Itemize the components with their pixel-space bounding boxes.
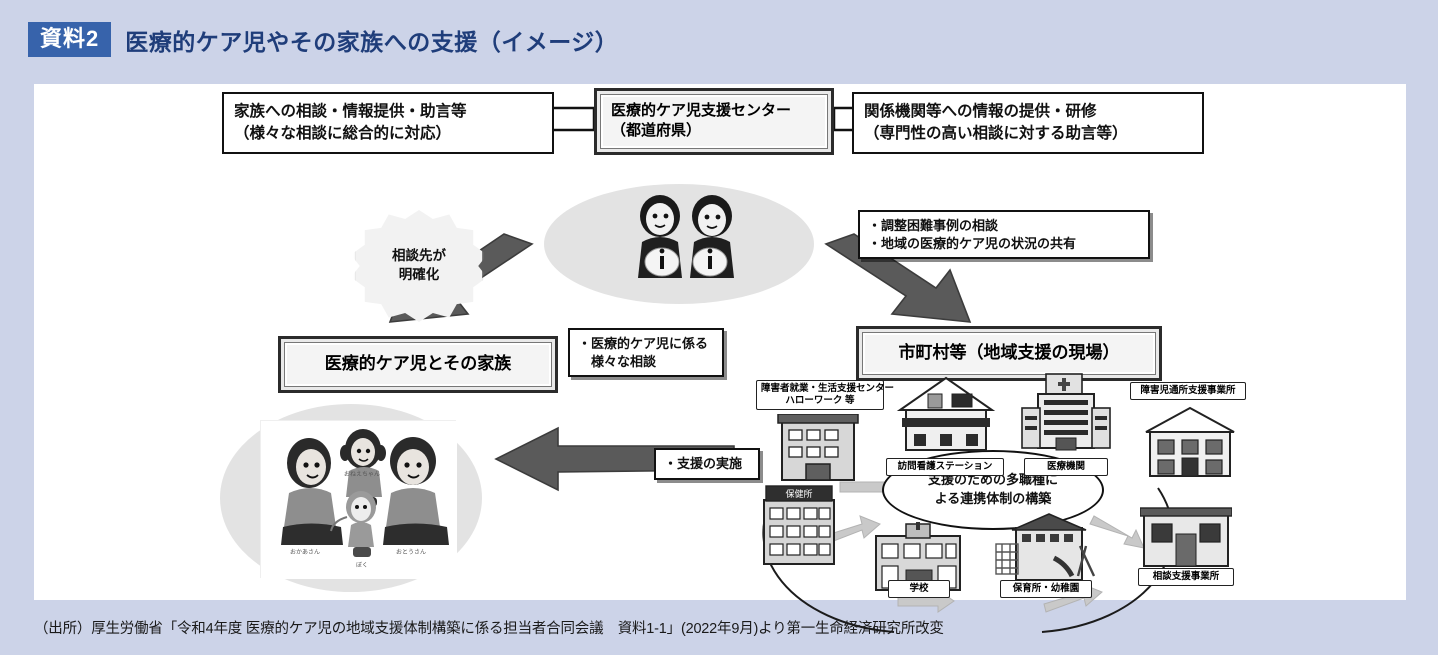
diagram-panel: 家族への相談・情報提供・助言等 （様々な相談に総合的に対応） 医療的ケア児支援セ… xyxy=(34,84,1406,600)
note-ftc-line2: 様々な相談 xyxy=(578,353,714,371)
facility-label-consultation-office: 相談支援事業所 xyxy=(1138,568,1234,586)
note-support-implementation: ・支援の実施 xyxy=(654,448,760,480)
facility-label-day-service: 障害児通所支援事業所 xyxy=(1130,382,1246,400)
facility-employment-line1: 障害者就業・生活支援センター xyxy=(761,383,879,395)
figure-page: 資料2 医療的ケア児やその家族への支援（イメージ） xyxy=(0,0,1438,655)
medical-institution-building-icon xyxy=(1018,370,1114,459)
visiting-nursing-house-icon xyxy=(896,376,996,459)
facility-nursery-line1: 保育所・幼稚園 xyxy=(1005,583,1087,595)
facility-label-employment-center: 障害者就業・生活支援センター ハローワーク 等 xyxy=(756,380,884,410)
facility-dayservice-line1: 障害児通所支援事業所 xyxy=(1135,385,1241,397)
center-node-line1: 医療的ケア児支援センター xyxy=(611,101,819,121)
center-node-box: 医療的ケア児支援センター （都道府県） xyxy=(594,88,834,155)
network-ellipse-line2: よる連携体制の構築 xyxy=(928,490,1058,509)
person-male-icon xyxy=(690,195,734,278)
svg-text:保健所: 保健所 xyxy=(785,488,812,500)
municipality-node-label: 市町村等（地域支援の現場） xyxy=(899,343,1120,362)
right-note-box: 関係機関等への情報の提供・研修 （専門性の高い相談に対する助言等） xyxy=(852,92,1204,154)
day-service-house-icon xyxy=(1140,406,1240,485)
facility-nursing-line1: 訪問看護ステーション xyxy=(891,461,999,473)
note-municipality-to-center: ・調整困難事例の相談 ・地域の医療的ケア児の状況の共有 xyxy=(858,210,1150,259)
left-note-line1: 家族への相談・情報提供・助言等 xyxy=(234,101,542,123)
note-ftc-line1: ・医療的ケア児に係る xyxy=(578,335,714,353)
family-illustration: おかあさん おねえちゃん おとうさん ぼく xyxy=(260,420,456,578)
right-note-line1: 関係機関等への情報の提供・研修 xyxy=(864,101,1192,123)
family-node-label: 医療的ケア児とその家族 xyxy=(325,354,512,373)
note-mtc-line1: ・調整困難事例の相談 xyxy=(868,217,1140,235)
municipality-node-box: 市町村等（地域支援の現場） xyxy=(856,326,1162,381)
right-note-line2: （専門性の高い相談に対する助言等） xyxy=(864,123,1192,145)
employment-center-building-icon xyxy=(776,414,860,489)
facility-employment-line2: ハローワーク 等 xyxy=(761,395,879,407)
svg-text:おねえちゃん: おねえちゃん xyxy=(344,471,380,478)
consultation-office-building-icon xyxy=(1140,504,1232,575)
health-center-building-icon: 保健所 xyxy=(756,484,842,571)
note-mtc-line2: ・地域の医療的ケア児の状況の共有 xyxy=(868,235,1140,253)
starburst-line2: 明確化 xyxy=(392,266,446,285)
facility-label-medical-institution: 医療機関 xyxy=(1024,458,1108,476)
svg-text:おとうさん: おとうさん xyxy=(396,549,426,556)
source-note: （出所）厚生労働省「令和4年度 医療的ケア児の地域支援体制構築に係る担当者合同会… xyxy=(34,617,1406,638)
facility-label-school: 学校 xyxy=(888,580,950,598)
figure-number-badge: 資料2 xyxy=(28,22,111,57)
note-support-line1: ・支援の実施 xyxy=(664,455,750,473)
center-node-line2: （都道府県） xyxy=(611,121,819,141)
coordinator-people xyxy=(626,190,746,286)
left-note-box: 家族への相談・情報提供・助言等 （様々な相談に総合的に対応） xyxy=(222,92,554,154)
svg-text:おかあさん: おかあさん xyxy=(290,549,320,556)
note-family-to-center: ・医療的ケア児に係る 様々な相談 xyxy=(568,328,724,377)
figure-header: 資料2 医療的ケア児やその家族への支援（イメージ） xyxy=(28,22,618,57)
svg-text:ぼく: ぼく xyxy=(356,562,368,569)
family-node-box: 医療的ケア児とその家族 xyxy=(278,336,558,393)
facility-label-nursery: 保育所・幼稚園 xyxy=(1000,580,1092,598)
facility-label-visiting-nursing: 訪問看護ステーション xyxy=(886,458,1004,476)
person-female-icon xyxy=(638,195,682,278)
starburst-line1: 相談先が xyxy=(392,247,446,266)
facility-consultation-line1: 相談支援事業所 xyxy=(1143,571,1229,583)
facility-medical-line1: 医療機関 xyxy=(1029,461,1103,473)
facility-school-line1: 学校 xyxy=(893,583,945,595)
page-title: 医療的ケア児やその家族への支援（イメージ） xyxy=(125,23,618,57)
left-note-line2: （様々な相談に総合的に対応） xyxy=(234,123,542,145)
